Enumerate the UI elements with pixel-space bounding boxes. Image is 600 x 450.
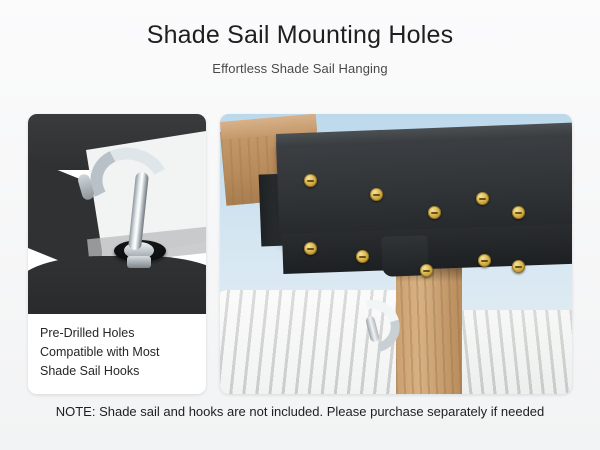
left-caption: Pre-Drilled Holes Compatible with Most S… (28, 314, 206, 394)
screw-icon (356, 250, 369, 263)
screw-icon (478, 254, 491, 267)
screw-icon (420, 264, 433, 277)
footer-note: NOTE: Shade sail and hooks are not inclu… (0, 404, 600, 419)
caption-line-1: Pre-Drilled Holes (40, 324, 194, 343)
left-feature-card: Pre-Drilled Holes Compatible with Most S… (28, 114, 206, 394)
shade-sail-hook (346, 300, 390, 342)
wooden-post (396, 264, 462, 394)
screw-icon (428, 206, 441, 219)
panels-row: Pre-Drilled Holes Compatible with Most S… (28, 114, 572, 394)
screw-icon (512, 260, 525, 273)
screw-icon (512, 206, 525, 219)
promo-banner: Shade Sail Mounting Holes Effortless Sha… (0, 0, 600, 450)
hook-closeup-photo (28, 114, 206, 314)
screw-icon (304, 174, 317, 187)
right-product-photo (220, 114, 572, 394)
screw-icon (370, 188, 383, 201)
bracket-surface-bottom (28, 256, 206, 314)
page-subtitle: Effortless Shade Sail Hanging (0, 61, 600, 76)
page-title: Shade Sail Mounting Holes (0, 22, 600, 50)
caption-line-3: Shade Sail Hooks (40, 362, 194, 381)
screw-icon (304, 242, 317, 255)
screw-icon (476, 192, 489, 205)
shade-sail-fabric-right (458, 310, 572, 394)
hook-nut (127, 256, 151, 268)
caption-line-2: Compatible with Most (40, 343, 194, 362)
header: Shade Sail Mounting Holes Effortless Sha… (0, 0, 600, 76)
